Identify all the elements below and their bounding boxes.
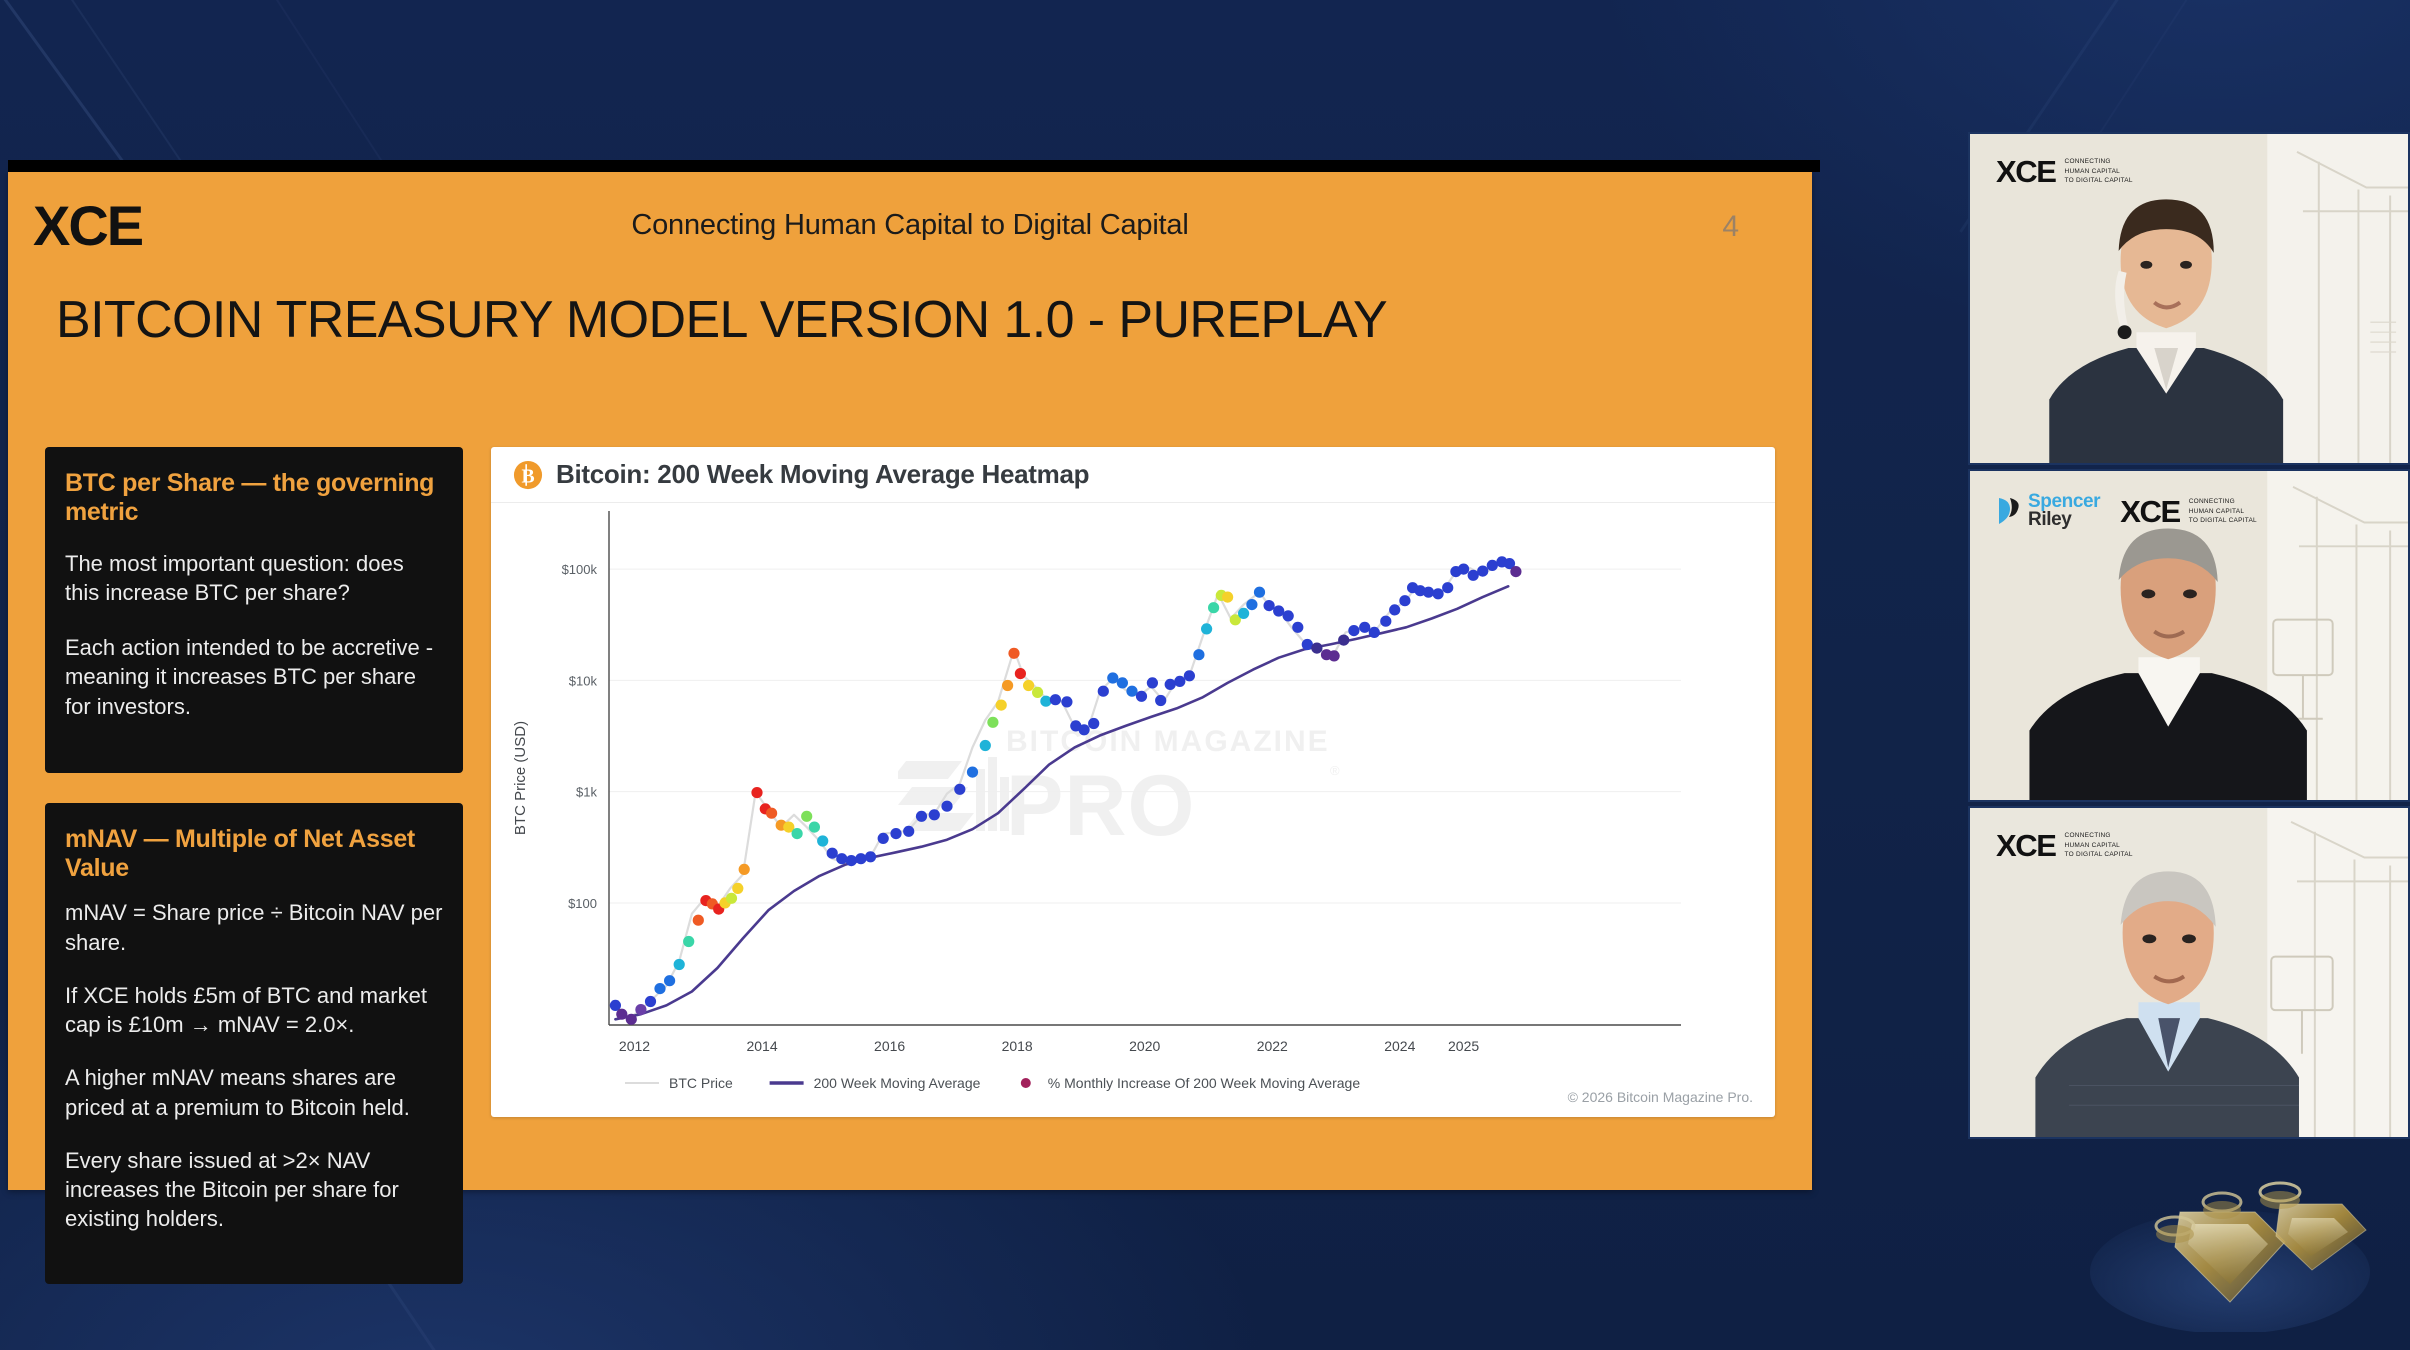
card-paragraph: A higher mNAV means shares are priced at… <box>65 1063 443 1122</box>
chart-header: B Bitcoin: 200 Week Moving Average Heatm… <box>491 447 1775 503</box>
video-tile-participant-2[interactable]: Spencer Riley XCE CONNECTING HUMAN CAPIT… <box>1968 469 2410 802</box>
video-tile-participant-3[interactable]: XCE CONNECTING HUMAN CAPITAL TO DIGITAL … <box>1968 806 2410 1139</box>
spencer-riley-icon <box>1996 495 2022 527</box>
xce-logo-tagline: CONNECTING HUMAN CAPITAL TO DIGITAL CAPI… <box>2189 497 2257 525</box>
svg-text:2018: 2018 <box>1002 1038 1033 1054</box>
svg-text:2012: 2012 <box>619 1038 650 1054</box>
svg-text:2024: 2024 <box>1384 1038 1415 1054</box>
slide-title: BITCOIN TREASURY MODEL VERSION 1.0 - PUR… <box>56 290 1387 350</box>
xce-logo-mark: XCE <box>1996 830 2056 861</box>
card-mnav: mNAV — Multiple of Net Asset Value mNAV … <box>45 803 463 1284</box>
card-title: mNAV — Multiple of Net Asset Value <box>65 825 443 883</box>
svg-text:2022: 2022 <box>1257 1038 1288 1054</box>
svg-text:2014: 2014 <box>746 1038 777 1054</box>
chart-plot[interactable]: $100$1k$10k$100kBTC Price (USD)201220142… <box>491 503 1775 1117</box>
svg-text:B: B <box>521 465 534 487</box>
slide-left-column: BTC per Share — the governing metric The… <box>45 447 463 1284</box>
slide-page-number: 4 <box>1722 210 1739 244</box>
tile-logo-group: XCE CONNECTING HUMAN CAPITAL TO DIGITAL … <box>1996 156 2133 187</box>
slide-header: XCE Connecting Human Capital to Digital … <box>8 172 1812 282</box>
slide-tagline: Connecting Human Capital to Digital Capi… <box>8 209 1812 242</box>
card-paragraph: mNAV = Share price ÷ Bitcoin NAV per sha… <box>65 898 443 957</box>
xce-logo-mark: XCE <box>2120 496 2180 527</box>
shared-screen-region[interactable]: XCE Connecting Human Capital to Digital … <box>8 160 1820 1190</box>
svg-text:BTC Price (USD): BTC Price (USD) <box>512 721 529 835</box>
xce-logo-mark: XCE <box>1996 156 2056 187</box>
card-title: BTC per Share — the governing metric <box>65 469 443 527</box>
xce-logo-tagline: CONNECTING HUMAN CAPITAL TO DIGITAL CAPI… <box>2065 157 2133 185</box>
card-paragraph: If XCE holds £5m of BTC and market cap i… <box>65 981 443 1040</box>
chart-panel[interactable]: B Bitcoin: 200 Week Moving Average Heatm… <box>491 447 1775 1117</box>
card-paragraph: The most important question: does this i… <box>65 549 443 608</box>
svg-text:200 Week Moving Average: 200 Week Moving Average <box>814 1075 981 1091</box>
svg-text:2016: 2016 <box>874 1038 905 1054</box>
bitcoin-coin-icon: B <box>513 460 543 490</box>
svg-text:2025: 2025 <box>1448 1038 1479 1054</box>
spencer-riley-wordmark: Spencer Riley <box>2028 493 2100 530</box>
svg-text:% Monthly Increase Of 200 Week: % Monthly Increase Of 200 Week Moving Av… <box>1048 1075 1361 1091</box>
svg-text:$100: $100 <box>568 896 597 911</box>
card-btc-per-share: BTC per Share — the governing metric The… <box>45 447 463 773</box>
card-paragraph: Every share issued at >2× NAV increases … <box>65 1146 443 1234</box>
chart-title: Bitcoin: 200 Week Moving Average Heatmap <box>556 459 1089 490</box>
slide-body: BTC per Share — the governing metric The… <box>8 447 1812 1284</box>
video-tile-participant-1[interactable]: XCE CONNECTING HUMAN CAPITAL TO DIGITAL … <box>1968 132 2410 465</box>
svg-text:2020: 2020 <box>1129 1038 1160 1054</box>
chart-credit: © 2026 Bitcoin Magazine Pro. <box>1568 1089 1753 1105</box>
tile-logo-group: XCE CONNECTING HUMAN CAPITAL TO DIGITAL … <box>1996 830 2133 861</box>
spencer-riley-logo: Spencer Riley <box>1996 493 2100 530</box>
chart-canvas[interactable]: BITCOIN MAGAZINE PRO ® $100$1k$10k$100kB… <box>491 503 1775 1117</box>
svg-text:$10k: $10k <box>569 673 598 688</box>
svg-text:BTC Price: BTC Price <box>669 1075 733 1091</box>
svg-text:$100k: $100k <box>562 562 598 577</box>
share-top-letterbox <box>8 160 1820 172</box>
presentation-slide[interactable]: XCE Connecting Human Capital to Digital … <box>8 172 1812 1190</box>
xce-logo-tagline: CONNECTING HUMAN CAPITAL TO DIGITAL CAPI… <box>2065 831 2133 859</box>
video-participant-rail: XCE CONNECTING HUMAN CAPITAL TO DIGITAL … <box>1968 132 2410 1143</box>
svg-text:$1k: $1k <box>576 785 597 800</box>
card-paragraph: Each action intended to be accretive - m… <box>65 633 443 721</box>
tile-logo-group: Spencer Riley XCE CONNECTING HUMAN CAPIT… <box>1996 493 2257 530</box>
gold-glass-emblem <box>2080 1152 2380 1332</box>
